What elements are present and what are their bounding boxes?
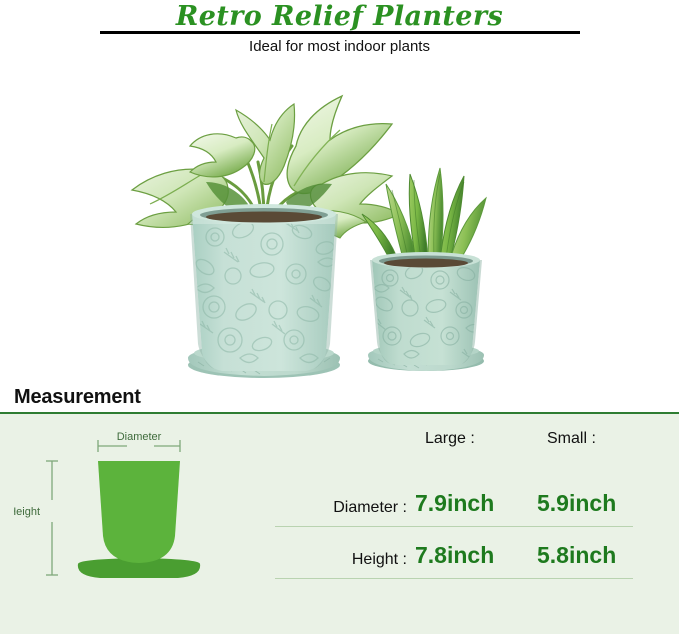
large-planter-body (190, 204, 338, 371)
hero-illustration (0, 62, 679, 382)
page-subtitle: Ideal for most indoor plants (0, 38, 679, 55)
small-planter-body (370, 252, 482, 365)
measurement-diagram: Diameter Height (14, 418, 264, 593)
spec-value-large: 7.9inch (415, 490, 494, 517)
spec-row-divider (275, 578, 633, 579)
spec-row-divider (275, 526, 633, 527)
height-caliper (46, 461, 58, 575)
spec-value-small: 5.9inch (537, 490, 616, 517)
spec-row-diameter: Diameter : 7.9inch 5.9inch (275, 490, 633, 540)
pot-dimension-diagram: Diameter Height (14, 418, 264, 593)
page-title: Retro Relief Planters (0, 1, 679, 32)
measurement-heading: Measurement (14, 386, 141, 409)
spec-value-large: 7.8inch (415, 542, 494, 569)
column-header-small: Small : (547, 430, 596, 448)
header: Retro Relief Planters Ideal for most ind… (0, 0, 679, 62)
spec-value-small: 5.8inch (537, 542, 616, 569)
height-label: Height (14, 506, 40, 518)
diagram-pot-body (98, 461, 180, 563)
title-divider (100, 31, 580, 34)
measurement-spec-table: Large : Small : Diameter : 7.9inch 5.9in… (275, 420, 665, 595)
spec-row-label: Diameter : (275, 499, 407, 517)
spec-row-height: Height : 7.8inch 5.8inch (275, 542, 633, 592)
spec-row-label: Height : (275, 551, 407, 569)
column-header-large: Large : (425, 430, 475, 448)
hero-product-image (0, 62, 679, 382)
diameter-label: Diameter (117, 431, 162, 443)
